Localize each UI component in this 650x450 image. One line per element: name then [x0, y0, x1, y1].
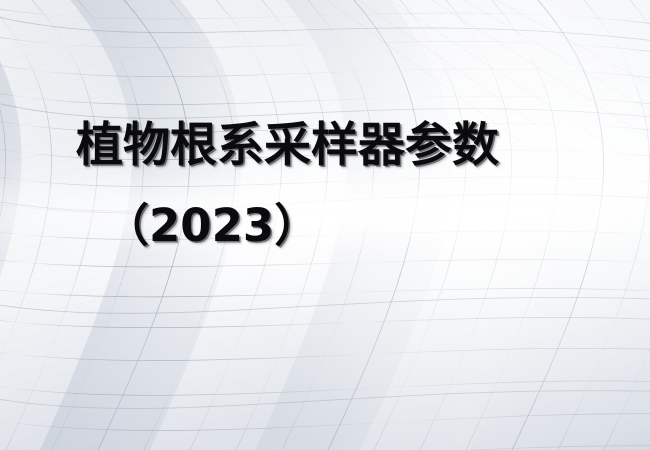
title-block: 植物根系采样器参数 （2023） — [0, 0, 650, 450]
slide-subtitle-year: （2023） — [104, 203, 319, 248]
title-slide: 植物根系采样器参数 （2023） — [0, 0, 650, 450]
slide-title: 植物根系采样器参数 — [76, 122, 499, 169]
